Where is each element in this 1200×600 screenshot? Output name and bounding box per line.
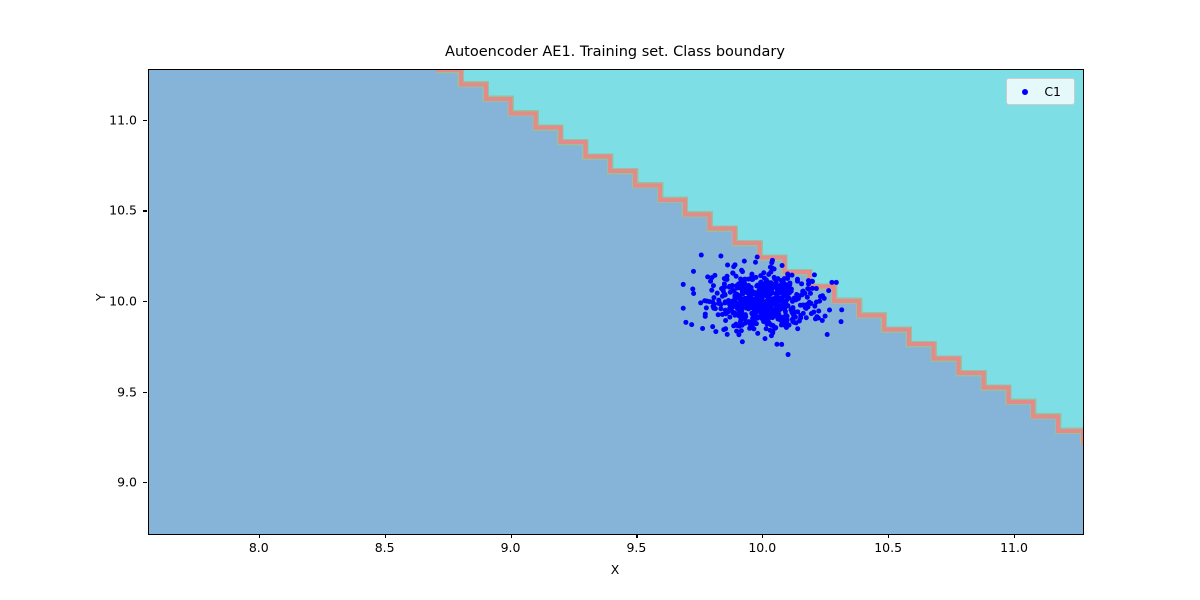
scatter-point [711, 306, 716, 311]
scatter-point [764, 287, 769, 292]
scatter-point [704, 299, 709, 304]
scatter-point [764, 293, 769, 298]
scatter-point [780, 263, 785, 268]
legend-label-c1: C1 [1044, 84, 1061, 99]
y-tick-mark [143, 120, 147, 121]
scatter-point [727, 285, 732, 290]
scatter-point [790, 308, 795, 313]
x-tick-mark [511, 534, 512, 538]
scatter-point [751, 291, 756, 296]
x-tick-mark [385, 534, 386, 538]
scatter-point [787, 296, 792, 301]
y-tick-label: 9.0 [117, 475, 137, 490]
scatter-point [732, 288, 737, 293]
scatter-point [743, 314, 748, 319]
scatter-point [800, 303, 805, 308]
scatter-point [753, 275, 758, 280]
scatter-point [755, 331, 760, 336]
scatter-point [710, 324, 715, 329]
scatter-point [766, 272, 771, 277]
scatter-point [781, 318, 786, 323]
scatter-point [709, 288, 714, 293]
scatter-point [768, 300, 773, 305]
scatter-point [804, 315, 809, 320]
scatter-point [704, 305, 709, 310]
scatter-point [755, 255, 760, 260]
y-tick-label: 10.0 [109, 294, 137, 309]
scatter-point [754, 283, 759, 288]
scatter-point [731, 264, 736, 269]
scatter-point [805, 295, 810, 300]
scatter-point [723, 292, 728, 297]
x-axis-label: X [148, 562, 1082, 577]
scatter-point [779, 342, 784, 347]
scatter-series-c1 [681, 253, 845, 358]
scatter-point [725, 263, 730, 268]
scatter-point [734, 283, 739, 288]
scatter-point [721, 327, 726, 332]
scatter-point [725, 332, 730, 337]
y-tick-mark [143, 482, 147, 483]
scatter-point [791, 320, 796, 325]
scatter-point [814, 286, 819, 291]
y-tick-label: 9.5 [117, 384, 137, 399]
scatter-point [715, 291, 720, 296]
scatter-point [765, 322, 770, 327]
scatter-point [798, 313, 803, 318]
scatter-point [727, 315, 732, 320]
scatter-point [716, 312, 721, 317]
scatter-point [740, 287, 745, 292]
scatter-point [822, 296, 827, 301]
scatter-point [771, 323, 776, 328]
scatter-point [809, 311, 814, 316]
x-tick-label: 8.0 [249, 540, 269, 555]
page-title: Autoencoder AE1. Training set. Class bou… [148, 44, 1082, 60]
scatter-point [785, 272, 790, 277]
scatter-point [812, 272, 817, 277]
scatter-point [736, 293, 741, 298]
scatter-point [763, 336, 768, 341]
scatter-point [699, 253, 704, 258]
scatter-point [823, 314, 828, 319]
x-tick-label: 10.0 [748, 540, 776, 555]
scatter-point [839, 307, 844, 312]
scatter-point [724, 277, 729, 282]
scatter-point [790, 273, 795, 278]
scatter-point [820, 318, 825, 323]
scatter-point [751, 299, 756, 304]
scatter-point [721, 285, 726, 290]
x-tick-label: 8.5 [375, 540, 395, 555]
scatter-point [734, 329, 739, 334]
scatter-point [718, 253, 723, 258]
scatter-point [826, 288, 831, 293]
scatter-point [730, 298, 735, 303]
scatter-point [744, 305, 749, 310]
scatter-point [764, 326, 769, 331]
scatter-point [771, 308, 776, 313]
scatter-point [723, 299, 728, 304]
scatter-point [752, 308, 757, 313]
scatter-point [834, 280, 839, 285]
scatter-point [769, 260, 774, 265]
x-tick-mark [888, 534, 889, 538]
scatter-point [799, 281, 804, 286]
x-tick-mark [1014, 534, 1015, 538]
scatter-point [712, 273, 717, 278]
scatter-point [789, 287, 794, 292]
scatter-point [705, 274, 710, 279]
scatter-point [720, 312, 725, 317]
scatter-point [700, 326, 705, 331]
scatter-point [759, 298, 764, 303]
scatter-point [743, 301, 748, 306]
scatter-point [827, 307, 832, 312]
scatter-point [745, 284, 750, 289]
y-axis-label: Y [93, 293, 108, 301]
scatter-point [774, 283, 779, 288]
y-tick-label: 11.0 [109, 112, 137, 127]
scatter-point [711, 295, 716, 300]
scatter-point [740, 339, 745, 344]
scatter-point [781, 289, 786, 294]
scatter-point [786, 352, 791, 357]
scatter-point [734, 274, 739, 279]
scatter-point [808, 291, 813, 296]
scatter-point [783, 313, 788, 318]
scatter-point [708, 279, 713, 284]
scatter-point [760, 316, 765, 321]
x-tick-mark [259, 534, 260, 538]
scatter-point [681, 306, 686, 311]
scatter-point [718, 302, 723, 307]
scatter-point [735, 323, 740, 328]
scatter-point [757, 288, 762, 293]
scatter-point [768, 265, 773, 270]
x-tick-label: 9.0 [501, 540, 521, 555]
scatter-point [691, 269, 696, 274]
scatter-point [703, 312, 708, 317]
scatter-point [742, 277, 747, 282]
scatter-point [739, 268, 744, 273]
scatter-point [780, 306, 785, 311]
scatter-point [740, 323, 745, 328]
scatter-point [795, 326, 800, 331]
scatter-point [783, 323, 788, 328]
scatter-point [725, 310, 730, 315]
scatter-point [710, 299, 715, 304]
scatter-point [839, 319, 844, 324]
scatter-point [732, 304, 737, 309]
scatter-point [814, 314, 819, 319]
y-tick-mark [143, 210, 147, 211]
scatter-point [683, 320, 688, 325]
scatter-point [812, 304, 817, 309]
y-tick-mark [143, 301, 147, 302]
scatter-point [742, 259, 747, 264]
x-tick-label: 11.0 [1000, 540, 1028, 555]
scatter-point [768, 280, 773, 285]
scatter-point [774, 342, 779, 347]
scatter-point [800, 289, 805, 294]
x-tick-label: 9.5 [626, 540, 646, 555]
scatter-point [691, 291, 696, 296]
scatter-point [759, 308, 764, 313]
scatter-point [746, 291, 751, 296]
x-tick-label: 10.5 [874, 540, 902, 555]
scatter-point [713, 329, 718, 334]
x-tick-mark [762, 534, 763, 538]
scatter-point [769, 333, 774, 338]
scatter-point [752, 317, 757, 322]
scatter-point [810, 279, 815, 284]
scatter-point [795, 279, 800, 284]
figure-canvas: Autoencoder AE1. Training set. Class bou… [0, 0, 1200, 600]
scatter-point [698, 300, 703, 305]
scatter-points-layer [149, 70, 1083, 534]
scatter-point [770, 314, 775, 319]
scatter-point [829, 280, 834, 285]
scatter-point [711, 283, 716, 288]
scatter-point [792, 313, 797, 318]
scatter-point [723, 318, 728, 323]
scatter-point [748, 321, 753, 326]
scatter-point [690, 287, 695, 292]
scatter-point [681, 282, 686, 287]
scatter-point [825, 332, 830, 337]
legend[interactable]: C1 [1006, 78, 1075, 105]
x-tick-mark [636, 534, 637, 538]
plot-area[interactable]: C1 [148, 69, 1084, 535]
scatter-point [770, 329, 775, 334]
y-tick-label: 10.5 [109, 203, 137, 218]
scatter-point [792, 296, 797, 301]
scatter-point [689, 322, 694, 327]
y-tick-mark [143, 392, 147, 393]
legend-marker-c1-icon [1022, 89, 1028, 95]
scatter-point [761, 270, 766, 275]
scatter-point [781, 280, 786, 285]
scatter-point [775, 296, 780, 301]
scatter-point [753, 260, 758, 265]
scatter-point [816, 309, 821, 314]
